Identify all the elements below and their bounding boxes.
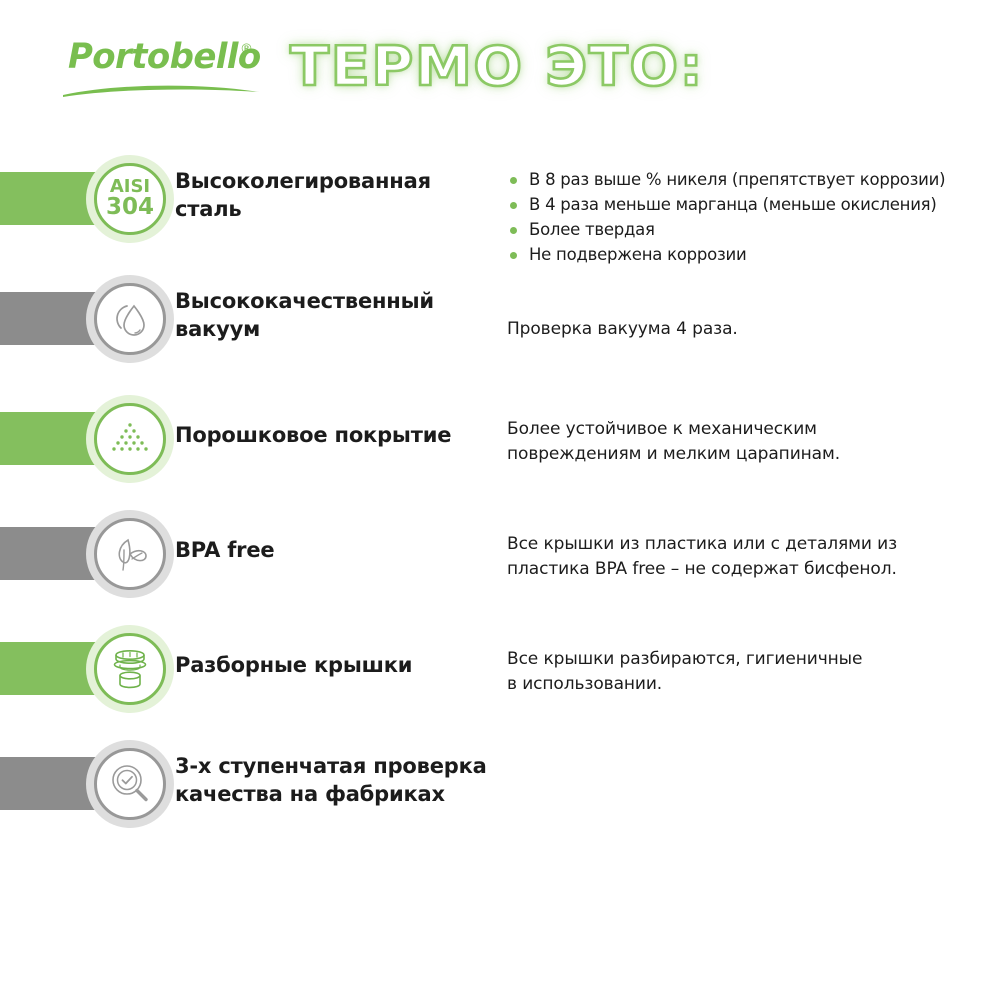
- two-leaves-glyph: [108, 532, 152, 576]
- magnifier-check-glyph: [107, 761, 153, 807]
- headline-block: ТЕРМО ЭТО:: [290, 33, 710, 105]
- powder-dots-glyph: [108, 419, 152, 459]
- benefit-list: В 8 раз выше % никеля (препятствует корр…: [507, 167, 997, 267]
- list-item-label: В 4 раза меньше марганца (меньше окислен…: [529, 195, 937, 214]
- bullet-dot-icon: [510, 227, 517, 234]
- list-item-label: Более твердая: [529, 220, 655, 239]
- feature-badge: [86, 275, 174, 363]
- feature-title: Порошковое покрытие: [175, 421, 485, 449]
- feature-description: В 8 раз выше % никеля (препятствует корр…: [507, 167, 997, 267]
- feature-description: Все крышки из пластика или с деталями из…: [507, 532, 997, 582]
- feature-title: Высоколегированная сталь: [175, 167, 485, 223]
- list-item: В 4 раза меньше марганца (меньше окислен…: [507, 192, 997, 217]
- feature-badge: [86, 395, 174, 483]
- two-leaves-icon: [94, 518, 166, 590]
- page-title: ТЕРМО ЭТО:: [290, 33, 735, 101]
- feature-title-line-2: вакуум: [175, 315, 485, 343]
- feature-badge: [86, 510, 174, 598]
- logo-swoosh-icon: [63, 81, 259, 97]
- description-line-2: пластика BPA free – не содержат бисфенол…: [507, 557, 997, 582]
- registered-trademark-icon: ®: [240, 42, 253, 57]
- feature-description: Проверка вакуума 4 раза.: [507, 317, 997, 342]
- disassembled-lid-glyph: [107, 646, 153, 692]
- bullet-dot-icon: [510, 202, 517, 209]
- bullet-dot-icon: [510, 252, 517, 259]
- bullet-dot-icon: [510, 177, 517, 184]
- feature-title-line-1: BPA free: [175, 536, 485, 564]
- list-item: Более твердая: [507, 217, 997, 242]
- feature-description: Более устойчивое к механическим поврежде…: [507, 417, 997, 467]
- description-line-1: Проверка вакуума 4 раза.: [507, 317, 997, 342]
- feature-title: Разборные крышки: [175, 651, 485, 679]
- list-item-label: В 8 раз выше % никеля (препятствует корр…: [529, 170, 945, 189]
- list-item-label: Не подвержена коррозии: [529, 245, 746, 264]
- list-item: В 8 раз выше % никеля (препятствует корр…: [507, 167, 997, 192]
- water-drop-vacuum-icon: [94, 283, 166, 355]
- feature-title: Высококачественный вакуум: [175, 287, 485, 343]
- page-header: Portobello ® ТЕРМО ЭТО:: [0, 0, 1000, 130]
- feature-title: BPA free: [175, 536, 485, 564]
- magnifier-check-icon: [94, 748, 166, 820]
- powder-dots-icon: [94, 403, 166, 475]
- description-line-1: Более устойчивое к механическим: [507, 417, 997, 442]
- feature-badge: [86, 740, 174, 828]
- aisi-grade: 304: [106, 196, 154, 219]
- feature-title: 3-х ступенчатая проверка качества на фаб…: [175, 752, 485, 808]
- logo-wordmark: Portobello: [68, 40, 261, 75]
- list-item: Не подвержена коррозии: [507, 242, 997, 267]
- feature-title-line-2: сталь: [175, 195, 485, 223]
- feature-title-line-1: Разборные крышки: [175, 651, 485, 679]
- description-line-1: Все крышки из пластика или с деталями из: [507, 532, 997, 557]
- feature-title-line-1: Порошковое покрытие: [175, 421, 485, 449]
- feature-description: Все крышки разбираются, гигиеничные в ис…: [507, 647, 997, 697]
- description-line-1: Все крышки разбираются, гигиеничные: [507, 647, 997, 672]
- feature-title-line-1: Высоколегированная: [175, 167, 485, 195]
- feature-badge: [86, 625, 174, 713]
- feature-badge: AISI 304: [86, 155, 174, 243]
- feature-title-line-1: Высококачественный: [175, 287, 485, 315]
- portobello-logo: Portobello ®: [66, 40, 266, 102]
- disassembled-lid-icon: [94, 633, 166, 705]
- description-line-2: в использовании.: [507, 672, 997, 697]
- aisi-304-badge-icon: AISI 304: [94, 163, 166, 235]
- feature-title-line-2: качества на фабриках: [175, 780, 485, 808]
- description-line-2: повреждениям и мелким царапинам.: [507, 442, 997, 467]
- water-drop-vacuum-glyph: [108, 297, 152, 341]
- feature-title-line-1: 3-х ступенчатая проверка: [175, 752, 485, 780]
